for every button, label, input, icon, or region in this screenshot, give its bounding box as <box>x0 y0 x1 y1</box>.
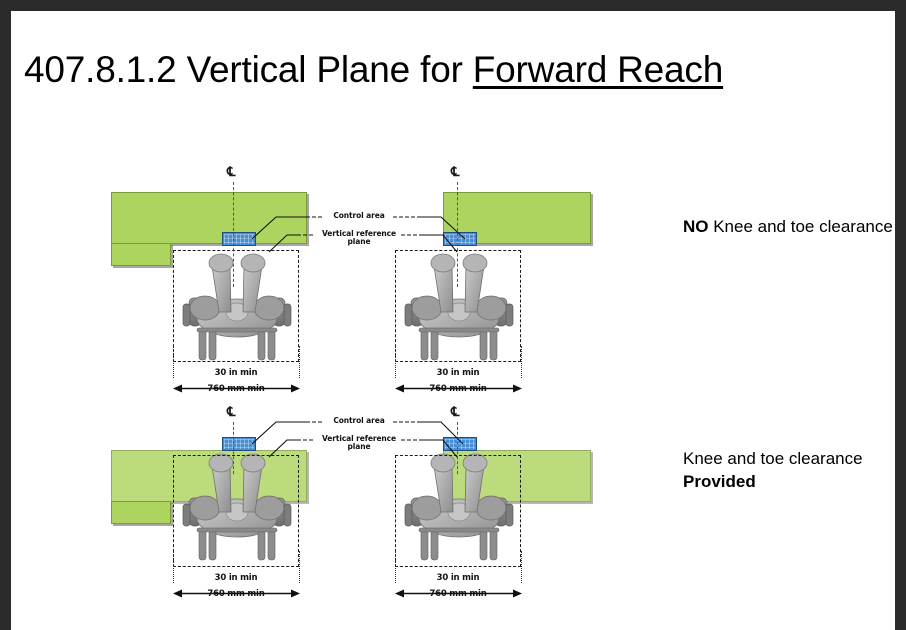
dimension-label-metric: 760 mm min <box>173 590 299 600</box>
dimension-label-metric: 760 mm min <box>395 590 521 600</box>
page-title: 407.8.1.2 Vertical Plane for Forward Rea… <box>24 49 884 91</box>
dimension-label-imperial: 30 in min <box>395 369 521 379</box>
label-control-area: Control area <box>323 212 395 220</box>
dimension-label-imperial: 30 in min <box>173 369 299 379</box>
dimension-label-imperial: 30 in min <box>173 574 299 584</box>
caption-emphasis-no: NO <box>683 217 709 236</box>
caption-text: Knee and toe clearance <box>709 217 893 236</box>
caption-emphasis-provided: Provided <box>683 472 756 491</box>
slide-page: 407.8.1.2 Vertical Plane for Forward Rea… <box>11 11 895 630</box>
dimension-extension-right <box>521 346 522 378</box>
slide-viewer: 407.8.1.2 Vertical Plane for Forward Rea… <box>0 0 906 630</box>
caption-text: Knee and toe clearance <box>683 449 863 468</box>
figure-group-clearance-provided: ℄ <box>101 406 621 630</box>
dimension-label-imperial: 30 in min <box>395 574 521 584</box>
title-main: 407.8.1.2 Vertical Plane for <box>24 49 473 90</box>
label-control-area: Control area <box>323 417 395 425</box>
dimension-label-metric: 760 mm min <box>395 385 521 395</box>
dimension-label-metric: 760 mm min <box>173 385 299 395</box>
title-underlined: Forward Reach <box>473 49 723 90</box>
caption-knee-toe-clearance-provided: Knee and toe clearance Provided <box>683 448 893 493</box>
dimension-extension-right <box>521 551 522 583</box>
caption-no-knee-toe-clearance: NO Knee and toe clearance <box>683 216 893 239</box>
figure-group-no-clearance: ℄ <box>101 166 621 406</box>
label-vertical-reference-plane: Vertical reference plane <box>313 230 405 247</box>
label-vertical-reference-plane: Vertical reference plane <box>313 435 405 452</box>
